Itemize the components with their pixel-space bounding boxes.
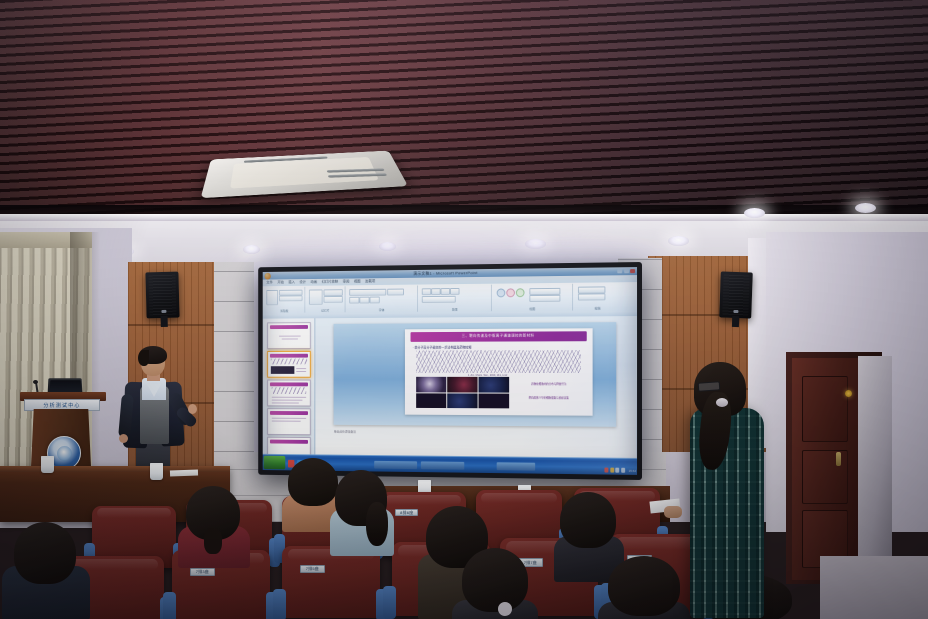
wall-speaker-icon: [719, 271, 753, 318]
downlight-icon: [855, 203, 876, 213]
micrograph-grid: [416, 377, 509, 408]
open-doorway: [858, 356, 892, 582]
venue-sign-text: 分析测试中心: [43, 402, 80, 409]
paper-cup: [41, 456, 54, 473]
ribbon-group-paragraph[interactable]: 段落: [419, 285, 492, 312]
slide-thumbnail[interactable]: [267, 408, 311, 435]
speaker-led: [161, 310, 166, 313]
menu-item-file[interactable]: 文件: [266, 280, 272, 285]
presenter-hair-side: [138, 350, 149, 366]
paper-cup: [150, 463, 163, 480]
menu-item-home[interactable]: 开始: [277, 280, 284, 285]
maximize-icon[interactable]: [624, 269, 629, 273]
exit-indicator-light-icon: [845, 390, 852, 397]
clock[interactable]: 15:42: [629, 468, 636, 472]
glasses-icon: [698, 381, 721, 392]
wall-speaker-icon: [145, 272, 179, 319]
hair-tie-icon: [716, 398, 728, 407]
presenter-left-hand: [119, 434, 128, 443]
paper-stack: [170, 470, 198, 477]
seat-number-text: 7排5座: [306, 566, 319, 572]
slide-bullet-text: · 单分子高分子载体的一步法构建及药物控释: [413, 344, 472, 349]
presenter-right-hand: [188, 404, 197, 414]
audience-member: [452, 548, 538, 619]
ribbon-group-label: 剪贴板: [265, 308, 305, 312]
close-icon[interactable]: [630, 269, 635, 273]
menu-item-addins[interactable]: 加载项: [365, 279, 375, 284]
projection-display-screen[interactable]: 演示文稿1 - Microsoft PowerPoint 文件 开始 插入 设计…: [258, 262, 642, 480]
ribbon-group-clipboard[interactable]: 剪贴板: [265, 287, 306, 313]
micrograph-cell: [416, 377, 446, 392]
tray-icon[interactable]: [605, 468, 609, 473]
ribbon-group-slides[interactable]: 幻灯片: [306, 286, 345, 312]
window-controls[interactable]: [617, 269, 635, 273]
micrograph-cell: [478, 377, 509, 392]
slide-thumbnail[interactable]: [267, 437, 311, 455]
audience-member: [330, 470, 394, 548]
speaker-mount: [160, 316, 167, 327]
chemical-structure-diagram: [416, 350, 581, 373]
tile-wall-left: [214, 262, 254, 482]
seat-number-text: 8排6座: [400, 510, 413, 516]
ribbon-group-label: 幻灯片: [306, 308, 344, 312]
speaker-led: [733, 310, 738, 313]
menu-item-view[interactable]: 视图: [354, 279, 361, 284]
seat-number-plate: 7排3座: [190, 568, 216, 576]
standing-attendee-hand: [664, 506, 682, 518]
menu-item-insert[interactable]: 插入: [288, 280, 295, 285]
menu-item-animations[interactable]: 动画: [311, 280, 318, 285]
seat-number-plate: 8排6座: [395, 509, 418, 517]
slide-thumbnail[interactable]: [267, 380, 311, 407]
laptop-screen: [49, 380, 81, 393]
lecture-hall-photo: 演示文稿1 - Microsoft PowerPoint 文件 开始 插入 设计…: [0, 0, 928, 619]
window-title: 演示文稿1 - Microsoft PowerPoint: [413, 270, 477, 277]
slide-canvas[interactable]: 三、靶向传递及中枢离子通道调控的新材料 · 单分子高分子载体的一步法构建及药物控…: [334, 322, 616, 427]
menu-item-design[interactable]: 设计: [299, 280, 306, 285]
wood-slat-ceiling: [0, 0, 928, 232]
notes-placeholder[interactable]: 单击此处添加备注: [334, 430, 356, 434]
seat-number-plate: 7排5座: [300, 565, 326, 573]
micrograph-caption: 靶向配体介导的细胞摄取与组织富集: [513, 396, 585, 399]
tray-icon[interactable]: [610, 468, 614, 473]
downlight-icon: [744, 208, 765, 218]
ribbon-group-editing[interactable]: 编辑: [574, 283, 621, 310]
micrograph-cell: [416, 393, 446, 408]
ribbon-group-label: 段落: [419, 307, 491, 311]
slide-editing-area[interactable]: 三、靶向传递及中枢离子通道调控的新材料 · 单分子高分子载体的一步法构建及药物控…: [315, 316, 636, 458]
ribbon-group-label: 绘图: [493, 306, 572, 311]
audience-member: [178, 486, 250, 564]
microphone-icon: [33, 380, 38, 384]
screen-surface[interactable]: 演示文稿1 - Microsoft PowerPoint 文件 开始 插入 设计…: [263, 267, 637, 475]
floor: [820, 556, 928, 619]
ribbon-group-drawing[interactable]: 绘图: [493, 284, 573, 311]
micrograph-cell: [478, 393, 509, 408]
slide-title-text: 三、靶向传递及中枢离子通道调控的新材料: [462, 334, 535, 339]
taskbar-window-button[interactable]: [374, 461, 417, 469]
slide-title-banner: 三、靶向传递及中枢离子通道调控的新材料: [411, 331, 587, 342]
taskbar-window-button[interactable]: [421, 461, 464, 469]
audience-member: [2, 522, 90, 619]
soffit-lip: [0, 214, 928, 221]
speaker-mount: [732, 316, 739, 327]
slide-thumbnail-pane[interactable]: [264, 318, 316, 454]
door-handle-icon[interactable]: [836, 452, 841, 466]
slide-thumbnail[interactable]: [267, 322, 311, 349]
menu-item-slideshow[interactable]: 幻灯片放映: [322, 280, 338, 285]
menu-item-review[interactable]: 审阅: [343, 280, 350, 285]
tray-icon[interactable]: [616, 468, 620, 473]
auditorium-seat[interactable]: 7排5座: [282, 546, 380, 618]
slide-thumbnail-selected[interactable]: [267, 351, 311, 378]
ribbon-toolbar[interactable]: 剪贴板 幻灯片 字体: [263, 282, 637, 315]
slide-content-card: 三、靶向传递及中枢离子通道调控的新材料 · 单分子高分子载体的一步法构建及药物控…: [405, 328, 592, 416]
system-tray[interactable]: 15:42: [605, 468, 636, 473]
ribbon-group-font[interactable]: 字体: [346, 285, 418, 312]
minimize-icon[interactable]: [617, 269, 622, 273]
tray-icon[interactable]: [621, 468, 625, 473]
micrograph-caption: 药物在细胞内的分布与释放行为: [513, 382, 585, 385]
ribbon-group-label: 字体: [346, 307, 417, 311]
taskbar-window-button[interactable]: [497, 462, 535, 470]
ribbon-group-label: 编辑: [574, 306, 621, 310]
micrograph-cell: [447, 393, 477, 408]
micrograph-cell: [447, 377, 477, 392]
audience-member: [598, 556, 690, 619]
seat-number-text: 7排3座: [196, 569, 209, 575]
